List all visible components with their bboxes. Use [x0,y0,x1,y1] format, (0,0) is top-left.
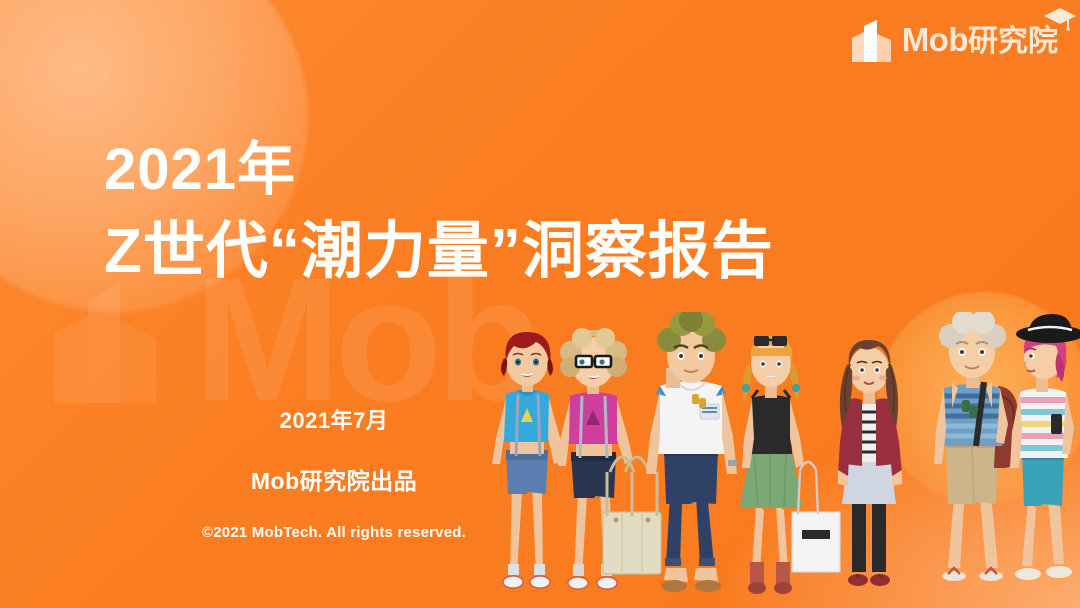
brand-logo-cn: 研究院 [968,27,1058,57]
figure-girl-blonde-glasses-pink [558,328,661,589]
page-title: Z世代“潮力量”洞察报告 [104,219,944,286]
brand-logo: Mob 研究院 [851,12,1058,68]
figure-girl-braids-green-skirt [740,336,840,594]
shopping-bag [792,462,840,572]
figure-girl-red-hair-blue-tee [492,332,562,588]
figure-boy-blond-tank-backpack [934,312,1018,581]
mob-building-mark-icon [851,18,893,62]
figure-girl-brown-hair-red-jacket [838,340,902,586]
report-cover-slide: Mob Mob 研究院 2021年 Z世代“潮力量”洞察报告 2021年7月 M… [0,0,1080,608]
title-block: 2021年 Z世代“潮力量”洞察报告 [104,140,944,286]
title-year: 2021年 [104,140,944,201]
figure-girl-pink-hair-black-hat [1010,314,1080,580]
brand-logo-en: Mob [902,23,968,56]
black-hat [1016,314,1080,343]
group-of-teenagers-illustration [470,312,1080,608]
brand-logo-text: Mob 研究院 [902,23,1058,57]
teenagers-svg [470,312,1080,608]
graduation-cap-icon [1042,5,1078,31]
